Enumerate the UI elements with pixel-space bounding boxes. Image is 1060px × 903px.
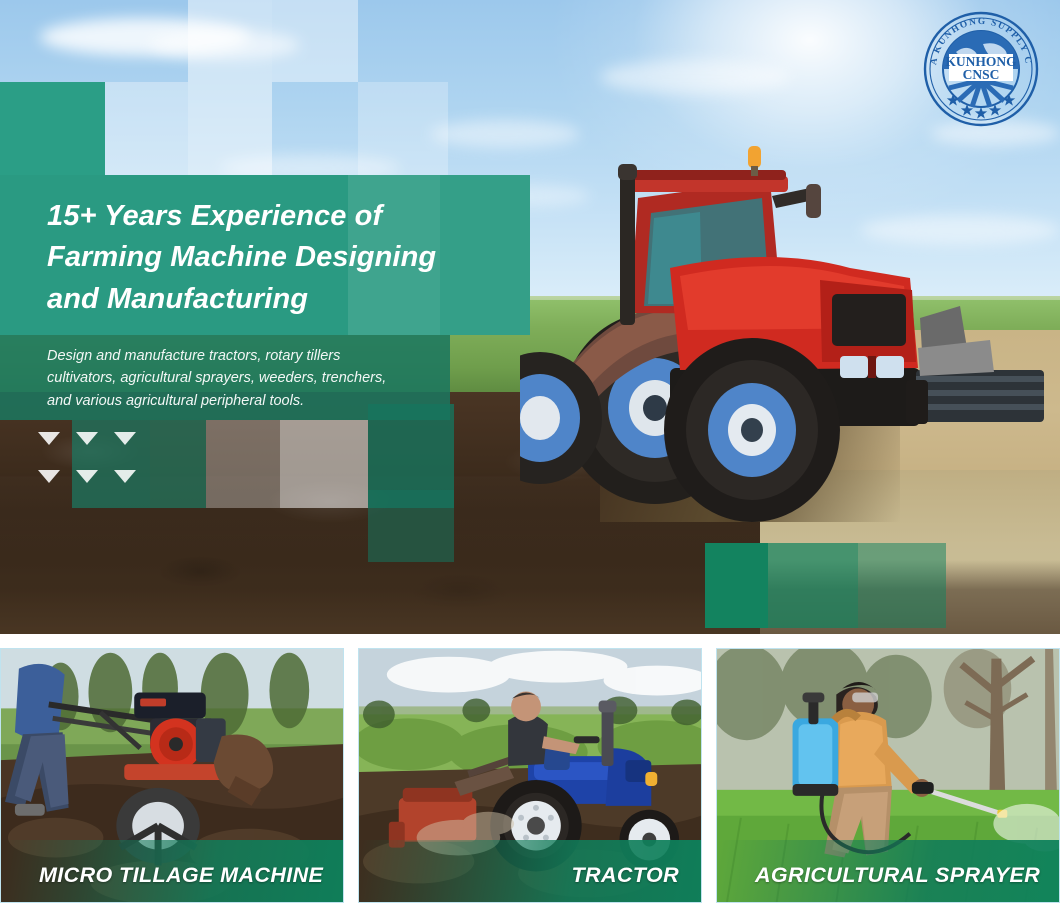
triangle-ornament-icon [76, 432, 98, 445]
cloud [600, 60, 790, 94]
decor-block-translucent [768, 543, 858, 628]
decor-block-solid [705, 543, 768, 628]
triangle-ornament-icon [38, 432, 60, 445]
decor-block-translucent [206, 420, 280, 508]
hero-headline: 15+ Years Experience of Farming Machine … [47, 196, 517, 320]
product-card-tractor[interactable]: TRACTOR [358, 648, 702, 903]
decor-block-translucent [150, 420, 206, 508]
headline-line-1: 15+ Years Experience of [47, 196, 517, 237]
subcopy-line-3: and various agricultural peripheral tool… [47, 390, 467, 412]
tractor-illustration [520, 118, 1060, 538]
triangle-ornament-icon [114, 432, 136, 445]
triangle-ornament-icon [76, 470, 98, 483]
product-card-agricultural-sprayer[interactable]: AGRICULTURAL SPRAYER [716, 648, 1060, 903]
card-label-tractor: TRACTOR [571, 863, 679, 888]
promo-banner: 15+ Years Experience of Farming Machine … [0, 0, 1060, 903]
decor-block-translucent [105, 82, 188, 175]
product-card-micro-tillage-machine[interactable]: MICRO TILLAGE MACHINE [0, 648, 344, 903]
decor-block-translucent [272, 0, 358, 82]
decor-block-translucent [368, 490, 454, 562]
company-logo-icon: KUNHONG CNSC CHINA KUNHONG SUPPLY CHAIN [920, 8, 1042, 130]
card-label-agricultural-sprayer: AGRICULTURAL SPRAYER [755, 863, 1040, 888]
subcopy-line-1: Design and manufacture tractors, rotary … [47, 345, 467, 367]
headline-line-3: and Manufacturing [47, 279, 517, 320]
decor-block-translucent [358, 82, 448, 175]
logo-abbr-text: CNSC [963, 67, 1000, 82]
headline-line-2: Farming Machine Designing [47, 237, 517, 278]
triangle-ornament-icon [114, 470, 136, 483]
decor-block-translucent [188, 0, 272, 175]
hero-subcopy: Design and manufacture tractors, rotary … [47, 345, 467, 412]
triangle-ornament-icon [38, 470, 60, 483]
subcopy-line-2: cultivators, agricultural sprayers, weed… [47, 367, 467, 389]
hero-section: 15+ Years Experience of Farming Machine … [0, 0, 1060, 634]
card-label-micro-tillage-machine: MICRO TILLAGE MACHINE [39, 863, 323, 888]
decor-block-translucent [280, 420, 368, 508]
decor-block-solid [0, 82, 105, 175]
product-card-row: MICRO TILLAGE MACHINE [0, 648, 1060, 903]
decor-block-translucent [858, 543, 946, 628]
